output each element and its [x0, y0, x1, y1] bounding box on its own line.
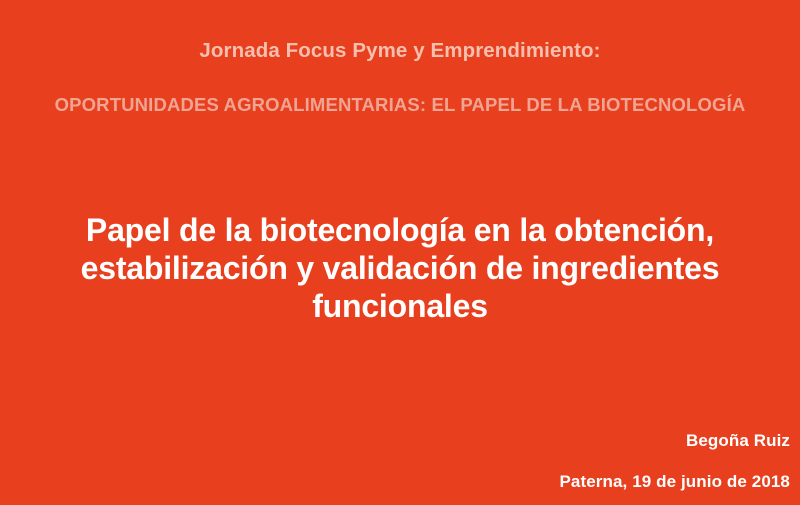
- presentation-title-slide: Jornada Focus Pyme y Emprendimiento: OPO…: [0, 0, 800, 505]
- event-series-label: Jornada Focus Pyme y Emprendimiento:: [0, 38, 800, 64]
- speaker-footer: Begoña Ruiz Paterna, 19 de junio de 2018: [559, 430, 790, 493]
- event-session-title: OPORTUNIDADES AGROALIMENTARIAS: EL PAPEL…: [0, 92, 800, 118]
- speaker-name: Begoña Ruiz: [559, 430, 790, 452]
- page-title: Papel de la biotecnología en la obtenció…: [0, 211, 800, 325]
- event-header: Jornada Focus Pyme y Emprendimiento: OPO…: [0, 38, 800, 118]
- place-and-date: Paterna, 19 de junio de 2018: [559, 471, 790, 493]
